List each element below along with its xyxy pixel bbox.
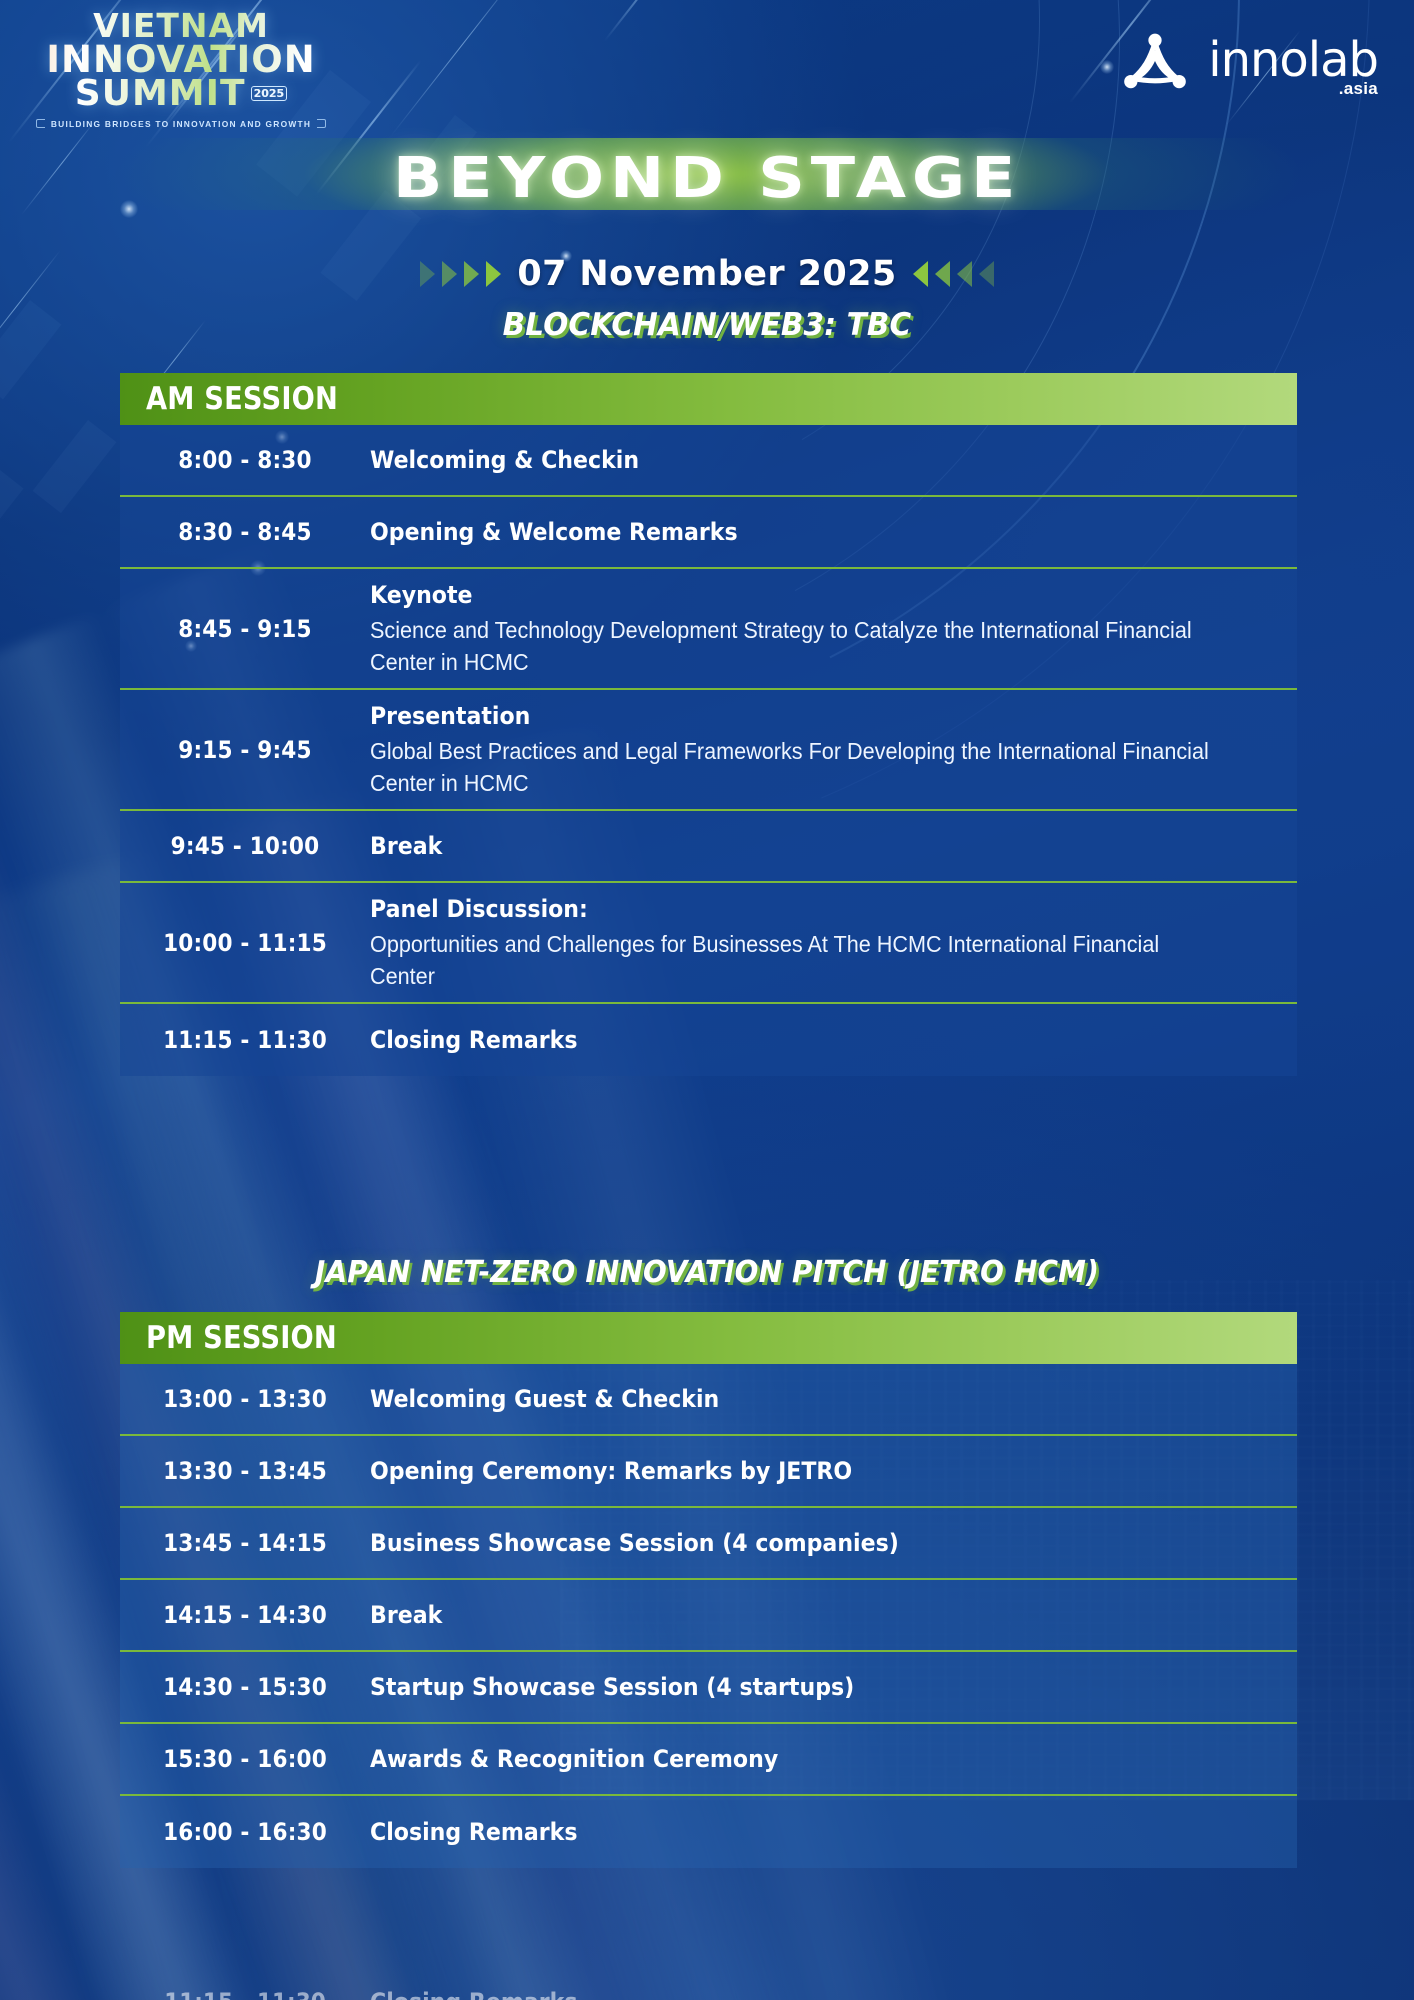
innolab-wordmark: innolab .asia [1208,36,1378,97]
row-content: Startup Showcase Session (4 startups) [370,1671,1297,1703]
row-title: Keynote [370,579,1199,611]
row-title: Break [370,830,1199,862]
triangle-left-icon [979,261,994,287]
row-content: Business Showcase Session (4 companies) [370,1527,1297,1559]
row-content: Awards & Recognition Ceremony [370,1743,1297,1775]
summit-logo-line1: VIETNAM [36,10,326,42]
innolab-trefoil-icon [1116,30,1194,102]
row-content: KeynoteScience and Technology Developmen… [370,579,1297,678]
table-row: 13:00 - 13:30Welcoming Guest & Checkin [120,1364,1297,1436]
row-title: Awards & Recognition Ceremony [370,1743,1199,1775]
summit-logo-line3: SUMMIT2025 [36,77,326,112]
summit-logo-year: 2025 [251,86,288,101]
pm-session-table: PM SESSION 13:00 - 13:30Welcoming Guest … [120,1312,1297,1868]
table-row: 15:30 - 16:00Awards & Recognition Ceremo… [120,1724,1297,1796]
am-session-header-label: AM SESSION [146,381,338,417]
row-time: 13:45 - 14:15 [133,1529,358,1557]
table-row: 10:00 - 11:15Panel Discussion:Opportunit… [120,883,1297,1004]
row-title: Business Showcase Session (4 companies) [370,1527,1199,1559]
row-content: Welcoming & Checkin [370,444,1297,476]
event-date: 07 November 2025 [517,254,896,294]
row-title: Welcoming Guest & Checkin [370,1383,1199,1415]
table-row: 14:30 - 15:30Startup Showcase Session (4… [120,1652,1297,1724]
bracket-right-icon [317,119,326,128]
row-time: 13:30 - 13:45 [133,1457,358,1485]
table-row: 13:30 - 13:45Opening Ceremony: Remarks b… [120,1436,1297,1508]
table-row: 14:15 - 14:30Break [120,1580,1297,1652]
triangle-group-left [420,261,501,287]
row-title: Opening & Welcome Remarks [370,516,1199,548]
innolab-logo: innolab .asia [1116,30,1378,102]
am-session-header: AM SESSION [120,373,1297,425]
table-row: 9:15 - 9:45PresentationGlobal Best Pract… [120,690,1297,811]
triangle-group-right [913,261,994,287]
row-time: 13:00 - 13:30 [133,1385,358,1413]
cut-off-row-title: Closing Remarks [370,1988,1223,2000]
row-title: Startup Showcase Session (4 startups) [370,1671,1199,1703]
row-title: Panel Discussion: [370,893,1199,925]
table-row: 11:15 - 11:30Closing Remarks [120,1004,1297,1076]
row-content: Closing Remarks [370,1024,1297,1056]
triangle-left-icon [935,261,950,287]
row-time: 8:00 - 8:30 [133,446,358,474]
row-title: Closing Remarks [370,1816,1199,1848]
row-title: Welcoming & Checkin [370,444,1199,476]
am-session-table: AM SESSION 8:00 - 8:30Welcoming & Checki… [120,373,1297,1076]
table-row: 13:45 - 14:15Business Showcase Session (… [120,1508,1297,1580]
row-content: Opening Ceremony: Remarks by JETRO [370,1455,1297,1487]
row-title: Closing Remarks [370,1024,1199,1056]
row-content: Break [370,830,1297,862]
track-subtitle: BLOCKCHAIN/WEB3: TBC [35,307,1378,343]
summit-logo-line2: INNOVATION [36,42,326,78]
triangle-left-icon [957,261,972,287]
row-content: Break [370,1599,1297,1631]
innolab-name: innolab [1208,36,1378,84]
row-time: 9:45 - 10:00 [133,832,358,860]
row-description: Science and Technology Development Strat… [370,615,1217,678]
row-time: 10:00 - 11:15 [133,929,358,957]
table-row: 8:30 - 8:45Opening & Welcome Remarks [120,497,1297,569]
row-content: Closing Remarks [370,1816,1297,1848]
pm-session-rows: 13:00 - 13:30Welcoming Guest & Checkin13… [120,1364,1297,1868]
row-description: Global Best Practices and Legal Framewor… [370,736,1217,799]
am-session-rows: 8:00 - 8:30Welcoming & Checkin8:30 - 8:4… [120,425,1297,1076]
row-content: Welcoming Guest & Checkin [370,1383,1297,1415]
row-description: Opportunities and Challenges for Busines… [370,929,1217,992]
row-time: 8:30 - 8:45 [133,518,358,546]
row-time: 16:00 - 16:30 [133,1818,358,1846]
cut-off-row: 11:15 - 11:30 Closing Remarks [120,1988,1297,2000]
row-time: 14:30 - 15:30 [133,1673,358,1701]
summit-logo: VIETNAM INNOVATION SUMMIT2025 BUILDING B… [36,10,326,129]
summit-logo-line3-text: SUMMIT [75,73,246,114]
row-time: 15:30 - 16:00 [133,1745,358,1773]
table-row: 8:45 - 9:15KeynoteScience and Technology… [120,569,1297,690]
bracket-left-icon [36,119,45,128]
event-date-row: 07 November 2025 [0,252,1414,296]
page-title: BEYOND STAGE [0,146,1414,211]
row-title: Presentation [370,700,1199,732]
table-row: 9:45 - 10:00Break [120,811,1297,883]
cut-off-row-time: 11:15 - 11:30 [133,1988,358,2000]
triangle-right-icon [442,261,457,287]
summit-tagline: BUILDING BRIDGES TO INNOVATION AND GROWT… [36,119,326,129]
summit-tagline-text: BUILDING BRIDGES TO INNOVATION AND GROWT… [51,119,311,129]
triangle-right-icon [420,261,435,287]
jetro-section-heading: JAPAN NET-ZERO INNOVATION PITCH (JETRO H… [49,1255,1364,1290]
table-row: 8:00 - 8:30Welcoming & Checkin [120,425,1297,497]
triangle-right-icon [464,261,479,287]
row-time: 8:45 - 9:15 [133,615,358,643]
triangle-left-icon [913,261,928,287]
row-content: Panel Discussion:Opportunities and Chall… [370,893,1297,992]
pm-session-header: PM SESSION [120,1312,1297,1364]
row-title: Break [370,1599,1199,1631]
row-content: Opening & Welcome Remarks [370,516,1297,548]
triangle-right-icon [486,261,501,287]
row-time: 11:15 - 11:30 [133,1026,358,1054]
row-time: 14:15 - 14:30 [133,1601,358,1629]
table-row: 16:00 - 16:30Closing Remarks [120,1796,1297,1868]
pm-session-header-label: PM SESSION [146,1320,337,1356]
row-time: 9:15 - 9:45 [133,736,358,764]
row-title: Opening Ceremony: Remarks by JETRO [370,1455,1199,1487]
row-content: PresentationGlobal Best Practices and Le… [370,700,1297,799]
